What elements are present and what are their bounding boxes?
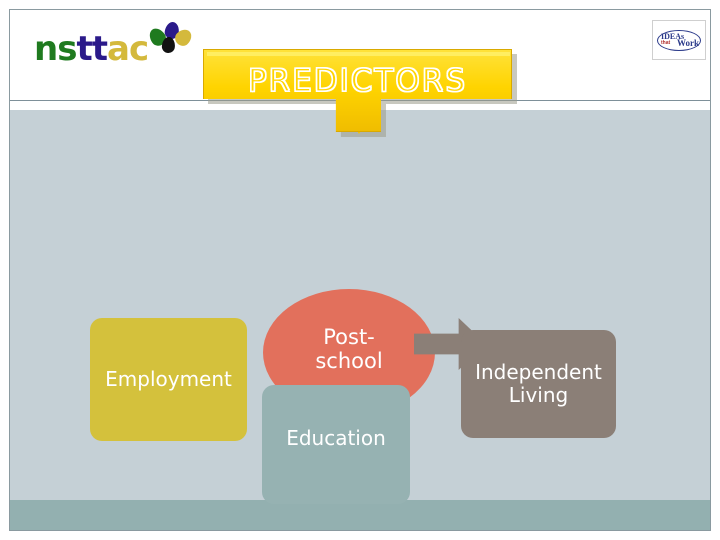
nsttac-petal-black-icon (161, 36, 175, 53)
employment-label: Employment (90, 368, 247, 391)
independent-living-label-line1: Independent (475, 360, 602, 384)
predictors-banner-title: PREDICTORS (203, 63, 512, 99)
post-school-label-line1: Post- (323, 325, 375, 349)
nsttac-letter-n: n (34, 29, 57, 69)
slide-canvas: nsttac IDEAs that Work PREDICTORS Employ… (0, 0, 720, 540)
employment-box[interactable]: Employment (90, 318, 247, 441)
predictors-banner-highlight (207, 52, 510, 56)
footer-bar (10, 500, 710, 530)
post-school-label-line2: school (315, 349, 382, 373)
independent-living-label: IndependentLiving (461, 361, 616, 407)
nsttac-wordmark: nsttac (34, 32, 148, 66)
education-label: Education (262, 427, 410, 450)
post-school-label: Post-school (263, 325, 435, 373)
ideas-logo-line3: Work (677, 39, 699, 48)
nsttac-letter-t1: t (76, 29, 91, 69)
nsttac-logo: nsttac (34, 22, 184, 72)
nsttac-letter-t2: t (92, 29, 107, 69)
ideas-logo-line2: that (661, 41, 670, 46)
nsttac-letter-s: s (57, 29, 76, 69)
ideas-that-work-logo: IDEAs that Work (652, 20, 706, 60)
nsttac-letter-c: c (129, 29, 148, 69)
ideas-logo-inner: IDEAs that Work (653, 21, 705, 59)
education-box[interactable]: Education (262, 385, 410, 504)
independent-living-label-line2: Living (509, 383, 568, 407)
nsttac-letter-a: a (107, 29, 129, 69)
predictors-banner: PREDICTORS (203, 49, 517, 137)
independent-living-box[interactable]: IndependentLiving (461, 330, 616, 438)
